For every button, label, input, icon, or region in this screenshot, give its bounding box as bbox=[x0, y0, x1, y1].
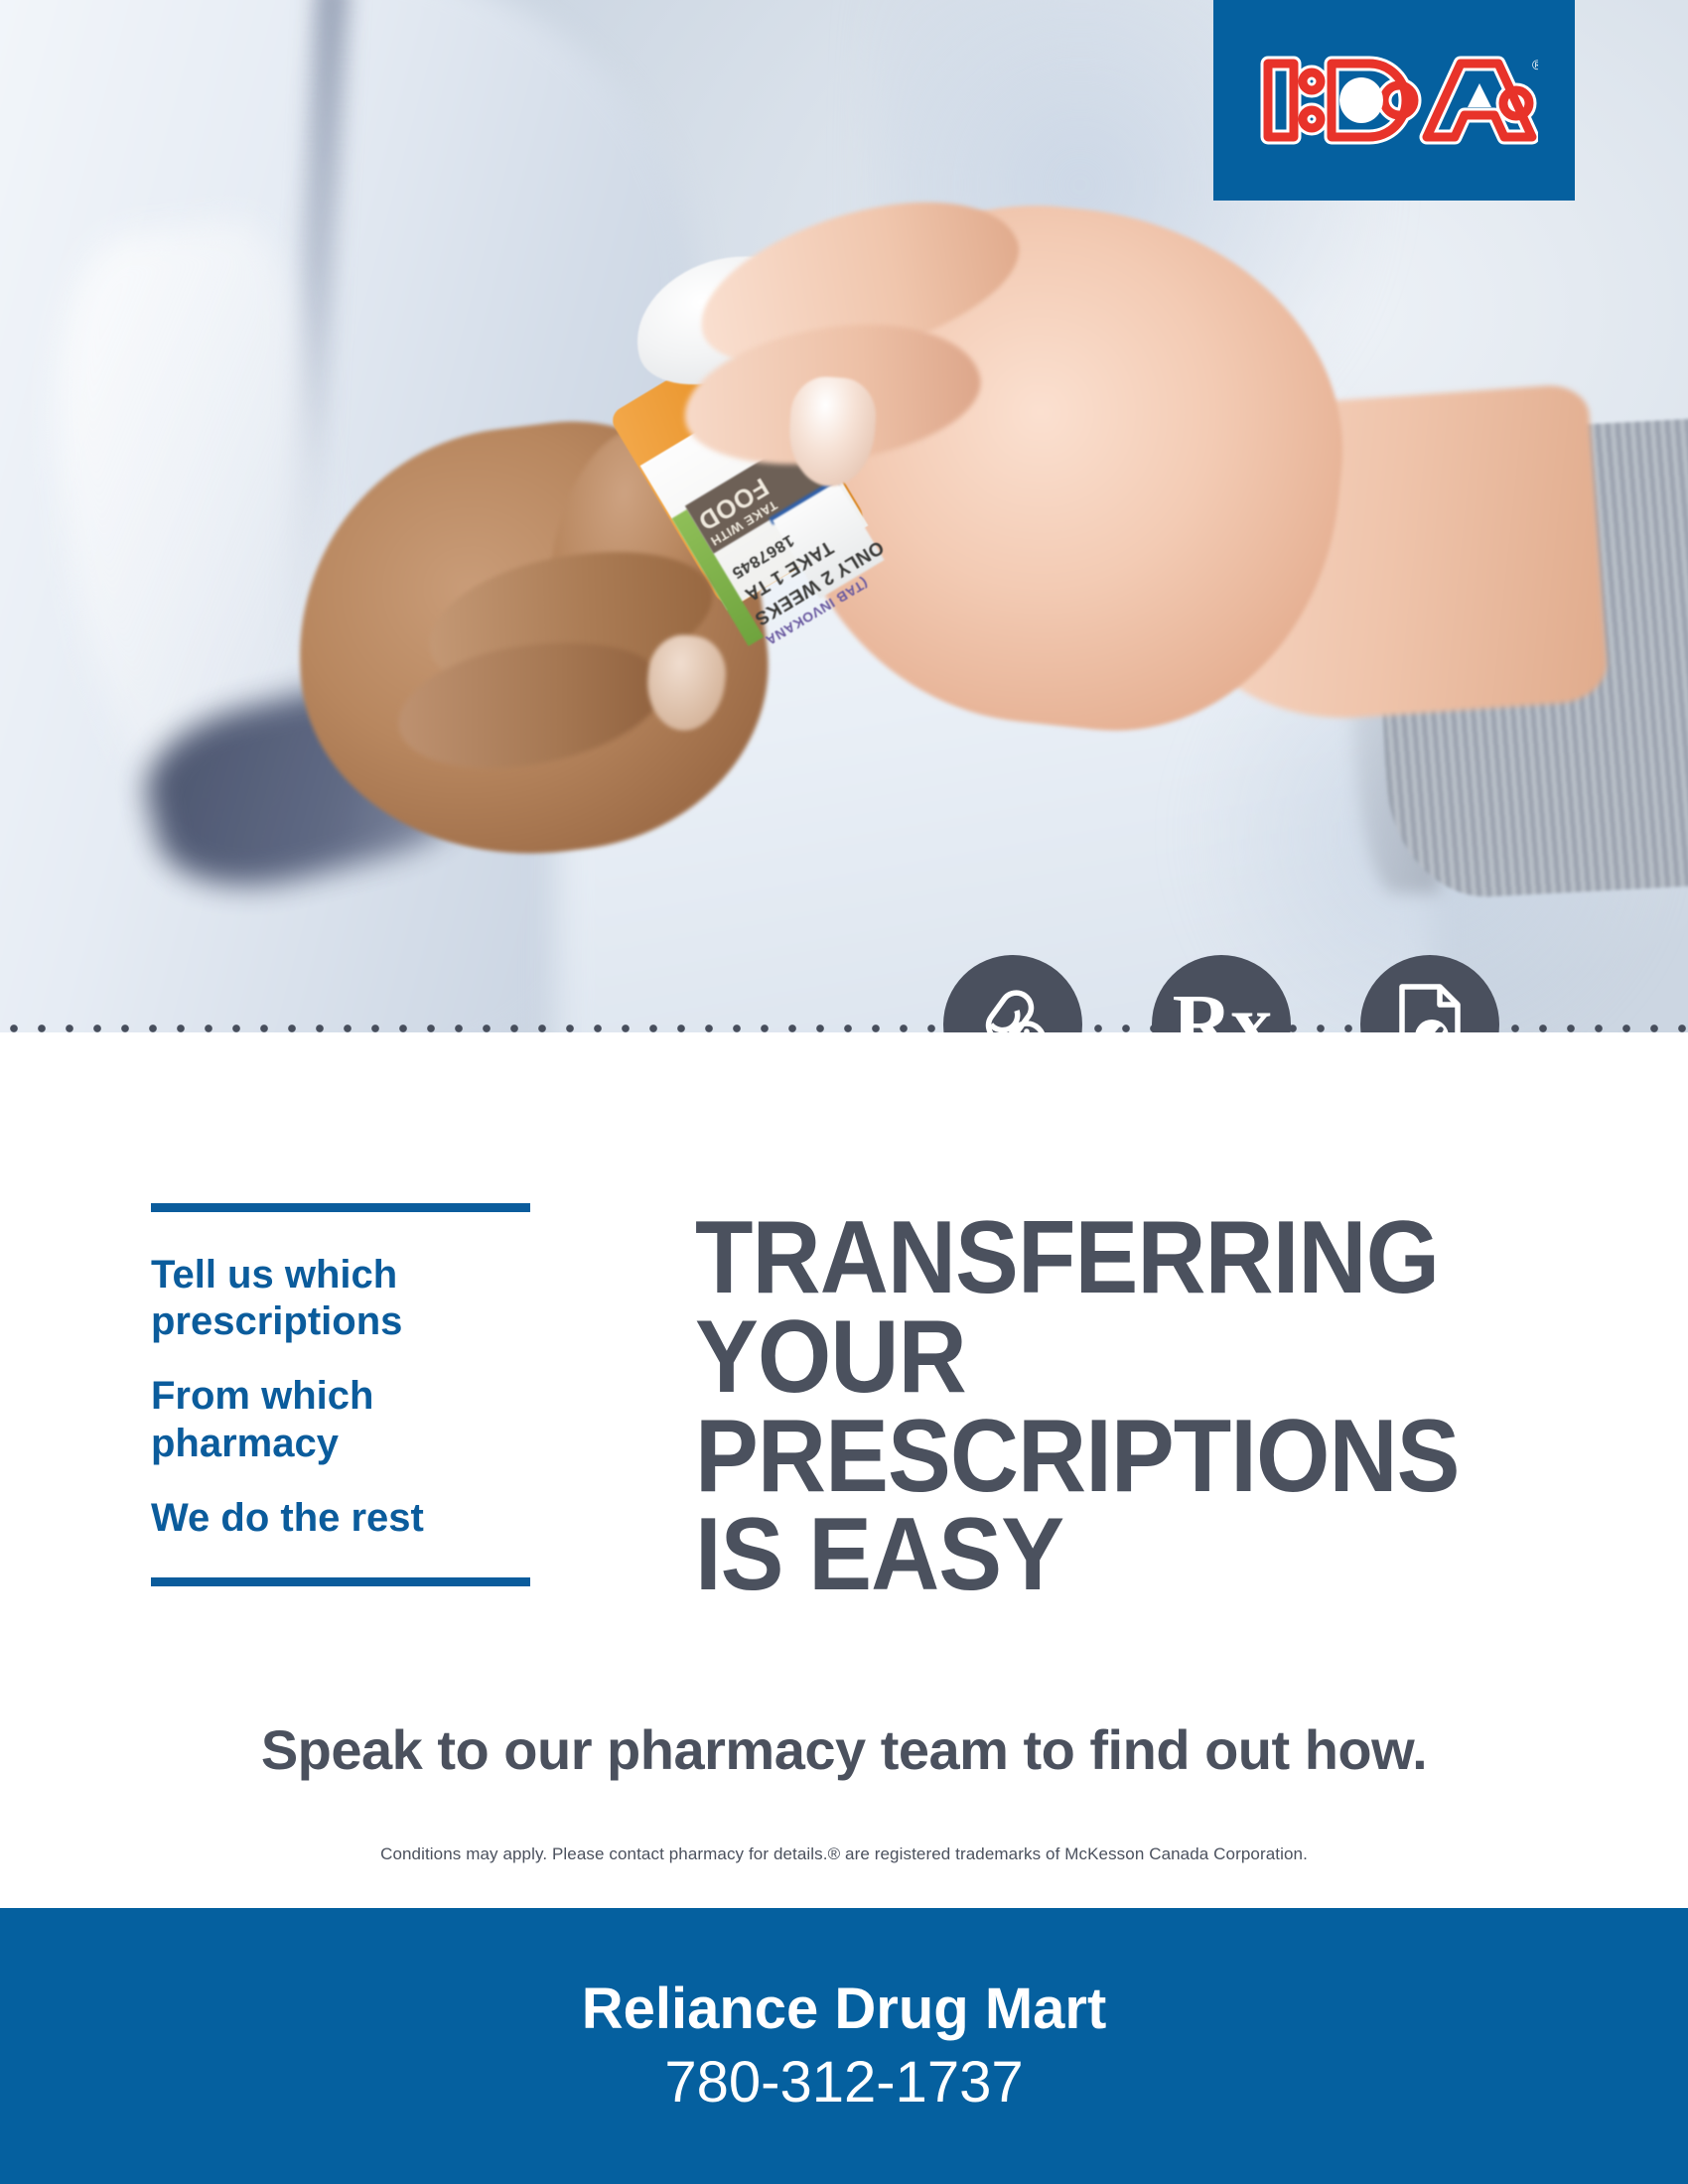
steps-rule-top bbox=[151, 1203, 530, 1212]
steps-list: Tell us which prescriptions From which p… bbox=[151, 1203, 530, 1586]
subline: Speak to our pharmacy team to find out h… bbox=[0, 1717, 1688, 1782]
step-item-1: Tell us which prescriptions bbox=[151, 1252, 530, 1345]
poster-root: FOOD TAKE WITH 1867845 TAKE 1 TA ONLY 2 … bbox=[0, 0, 1688, 2184]
store-phone[interactable]: 780-312-1737 bbox=[664, 2048, 1023, 2117]
logo-registered-mark: ® bbox=[1532, 57, 1538, 72]
ida-logo-mark: ® bbox=[1250, 46, 1538, 155]
steps-rule-bottom bbox=[151, 1577, 530, 1586]
store-name: Reliance Drug Mart bbox=[582, 1975, 1107, 2044]
step-item-2: From which pharmacy bbox=[151, 1373, 530, 1466]
headline-line-1: TRANSFERRING bbox=[695, 1209, 1463, 1308]
headline: TRANSFERRING YOUR PRESCRIPTIONS IS EASY bbox=[695, 1209, 1463, 1605]
step-item-3: We do the rest bbox=[151, 1495, 530, 1542]
headline-line-4: IS EASY bbox=[695, 1506, 1463, 1605]
footer-bar: Reliance Drug Mart 780-312-1737 bbox=[0, 1908, 1688, 2184]
fineprint-disclaimer: Conditions may apply. Please contact pha… bbox=[0, 1844, 1688, 1864]
headline-line-3: PRESCRIPTIONS bbox=[695, 1408, 1463, 1507]
ida-logo: ® bbox=[1213, 0, 1575, 201]
headline-line-2: YOUR bbox=[695, 1308, 1463, 1408]
